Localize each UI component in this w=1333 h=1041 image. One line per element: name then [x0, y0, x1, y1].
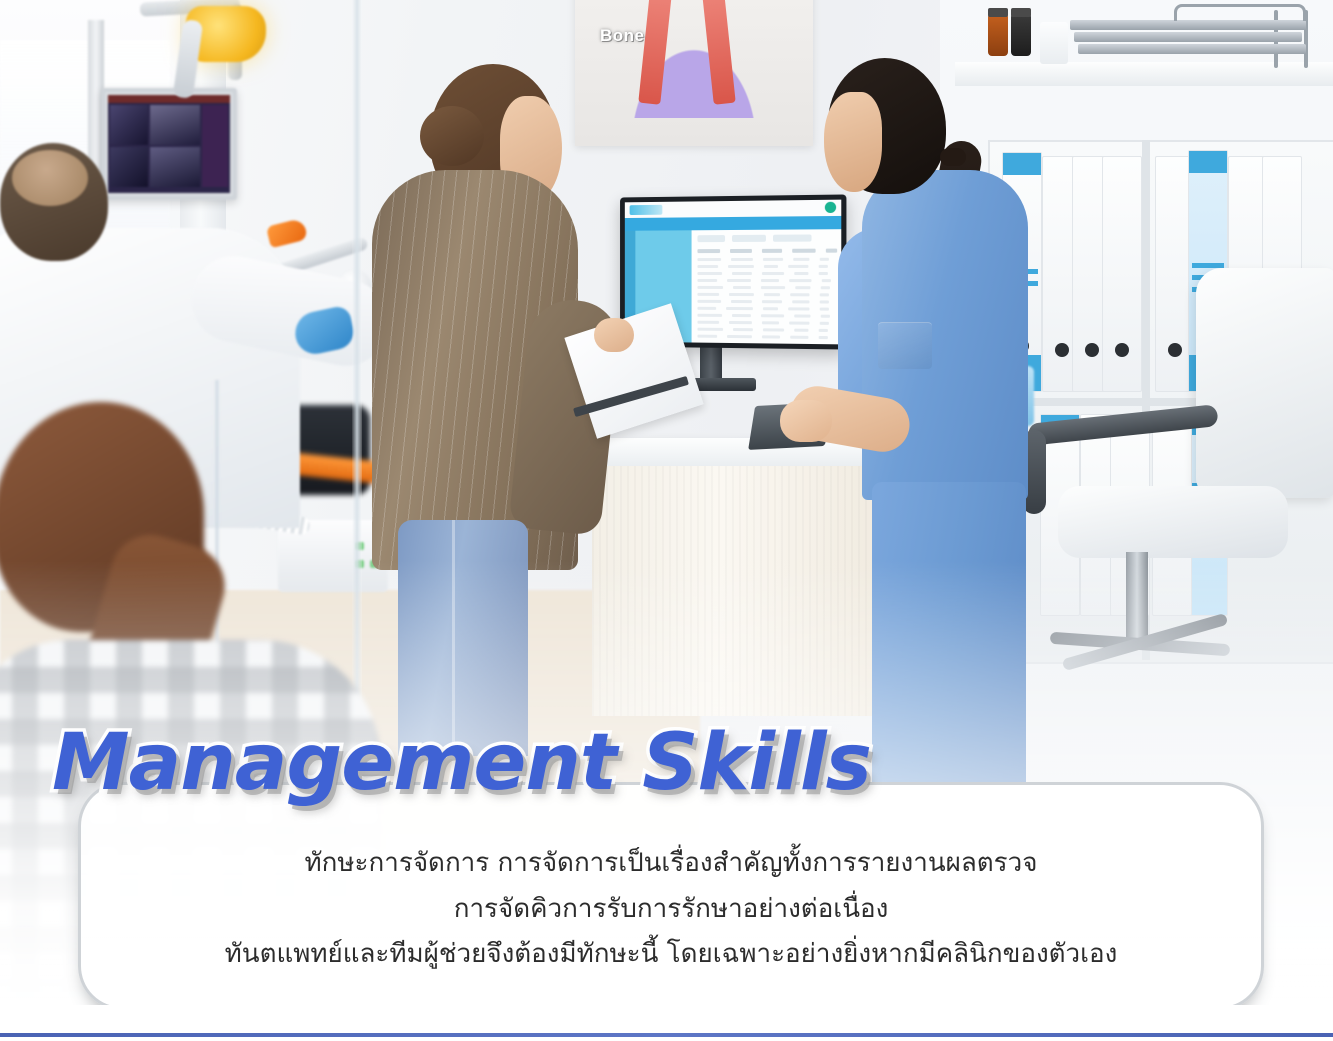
description-card: ทักษะการจัดการ การจัดการเป็นเรื่องสำคัญท… — [78, 782, 1264, 1010]
table-row[interactable] — [697, 279, 837, 282]
monitor-neck — [700, 346, 722, 380]
app-tab-2[interactable] — [732, 235, 766, 242]
scrub-pocket — [878, 322, 932, 369]
app-content — [692, 229, 842, 344]
document-tray-rack — [1078, 10, 1308, 68]
assistant-face — [824, 92, 882, 192]
description-card-body: ทักษะการจัดการ การจัดการเป็นเรื่องสำคัญท… — [81, 785, 1261, 1007]
xray-display-monitor — [101, 88, 237, 200]
table-header — [697, 249, 837, 254]
paper-tray-1 — [1070, 20, 1306, 30]
app-tab-3[interactable] — [773, 234, 812, 241]
table-row[interactable] — [697, 328, 837, 332]
xray-tool-panel — [202, 105, 228, 187]
bottle-cap-dark — [1011, 8, 1031, 17]
table-row[interactable] — [697, 307, 837, 311]
description-line-2: การจัดคิวการรับการรักษาอย่างต่อเนื่อง — [454, 891, 889, 928]
table-row[interactable] — [697, 272, 837, 275]
poster-label-bone: Bone — [600, 26, 645, 46]
table-row[interactable] — [697, 286, 837, 289]
binder — [1102, 156, 1142, 392]
supply-jar-white — [1040, 22, 1068, 64]
gum-bone-outline — [591, 0, 797, 118]
office-chair-seat — [1058, 486, 1288, 558]
xray-panoramic — [150, 105, 200, 145]
description-line-1: ทักษะการจัดการ การจัดการเป็นเรื่องสำคัญท… — [305, 845, 1038, 882]
xray-image-4 — [150, 147, 200, 187]
page-title: Management Skills — [52, 718, 871, 808]
xray-screen — [108, 95, 230, 193]
manager-hair-bun — [420, 106, 484, 166]
dentist-scalp — [12, 150, 88, 206]
table-row[interactable] — [697, 314, 837, 318]
assistant-hand — [780, 400, 832, 442]
poster-root: Bone — [0, 0, 1333, 1041]
app-tab-1[interactable] — [697, 235, 725, 242]
tooth-diagram — [583, 0, 805, 132]
table-row[interactable] — [697, 335, 837, 340]
table-row[interactable] — [697, 300, 837, 304]
bottle-cap-amber — [988, 8, 1008, 17]
xray-image-3 — [110, 147, 148, 187]
supply-bottle-dark — [1011, 14, 1031, 56]
xray-app-toolbar — [108, 95, 230, 103]
avatar[interactable] — [825, 202, 836, 213]
app-tab-row[interactable] — [697, 234, 811, 242]
table-row[interactable] — [697, 321, 837, 325]
xray-image-1 — [110, 105, 148, 145]
bottom-blue-rule — [0, 1033, 1333, 1037]
office-chair-back — [1196, 268, 1333, 498]
hair-tie — [940, 148, 966, 166]
description-line-3: ทันตแพทย์และทีมผู้ช่วยจึงต้องมีทักษะนี้ … — [225, 936, 1118, 973]
supply-bottle-amber — [988, 14, 1008, 56]
table-row[interactable] — [697, 293, 837, 297]
table-row[interactable] — [697, 258, 837, 261]
table-row[interactable] — [697, 265, 837, 268]
app-logo — [630, 205, 663, 215]
manager-hand — [594, 318, 634, 352]
paper-tray-3 — [1078, 44, 1306, 54]
paper-tray-2 — [1074, 32, 1302, 42]
